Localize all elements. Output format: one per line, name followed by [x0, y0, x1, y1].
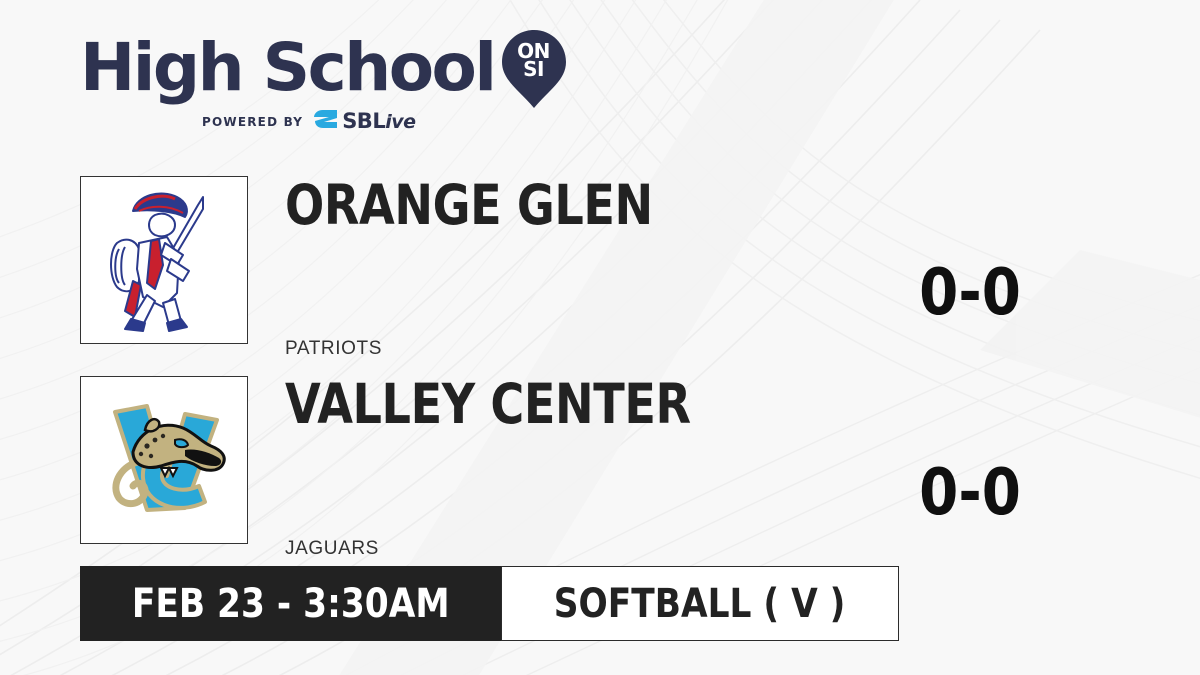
away-team-record: 0-0: [873, 261, 1067, 325]
home-team-mascot: JAGUARS: [285, 538, 379, 560]
brand-lockup: High School ON SI POWERED BY SBLive: [80, 30, 550, 140]
brand-title: High School: [80, 32, 495, 104]
away-team-logo-box: [80, 176, 248, 344]
home-team-logo-box: [80, 376, 248, 544]
sblive-wordmark: SBLive: [342, 111, 415, 133]
powered-by-row: POWERED BY SBLive: [202, 108, 550, 135]
pin-line-si: SI: [501, 60, 567, 78]
sblive-bold: SBL: [342, 109, 385, 133]
orange-glen-patriots-logo: [99, 185, 229, 335]
game-sport-panel: SOFTBALL ( V ): [501, 566, 898, 641]
game-datetime-panel: FEB 23 - 3:30AM: [80, 566, 501, 641]
sblive-italic: ive: [385, 111, 415, 133]
home-team-name: VALLEY CENTER: [285, 377, 691, 432]
powered-by-label: POWERED BY: [202, 115, 303, 129]
away-team-name: ORANGE GLEN: [285, 178, 653, 233]
sblive-s-icon: [313, 108, 339, 135]
game-datetime-text: FEB 23 - 3:30AM: [132, 584, 450, 624]
valley-center-jaguars-logo: [89, 390, 239, 530]
game-info-bar: FEB 23 - 3:30AM SOFTBALL ( V ): [80, 566, 899, 641]
home-team-record: 0-0: [873, 461, 1067, 525]
brand-title-row: High School ON SI: [80, 30, 550, 106]
on-si-pin-icon: ON SI: [501, 28, 567, 110]
matchup-graphic: High School ON SI POWERED BY SBLive: [0, 0, 1200, 675]
away-team-mascot: PATRIOTS: [285, 338, 382, 360]
game-sport-text: SOFTBALL ( V ): [554, 584, 846, 624]
on-si-pin-text: ON SI: [501, 42, 567, 78]
